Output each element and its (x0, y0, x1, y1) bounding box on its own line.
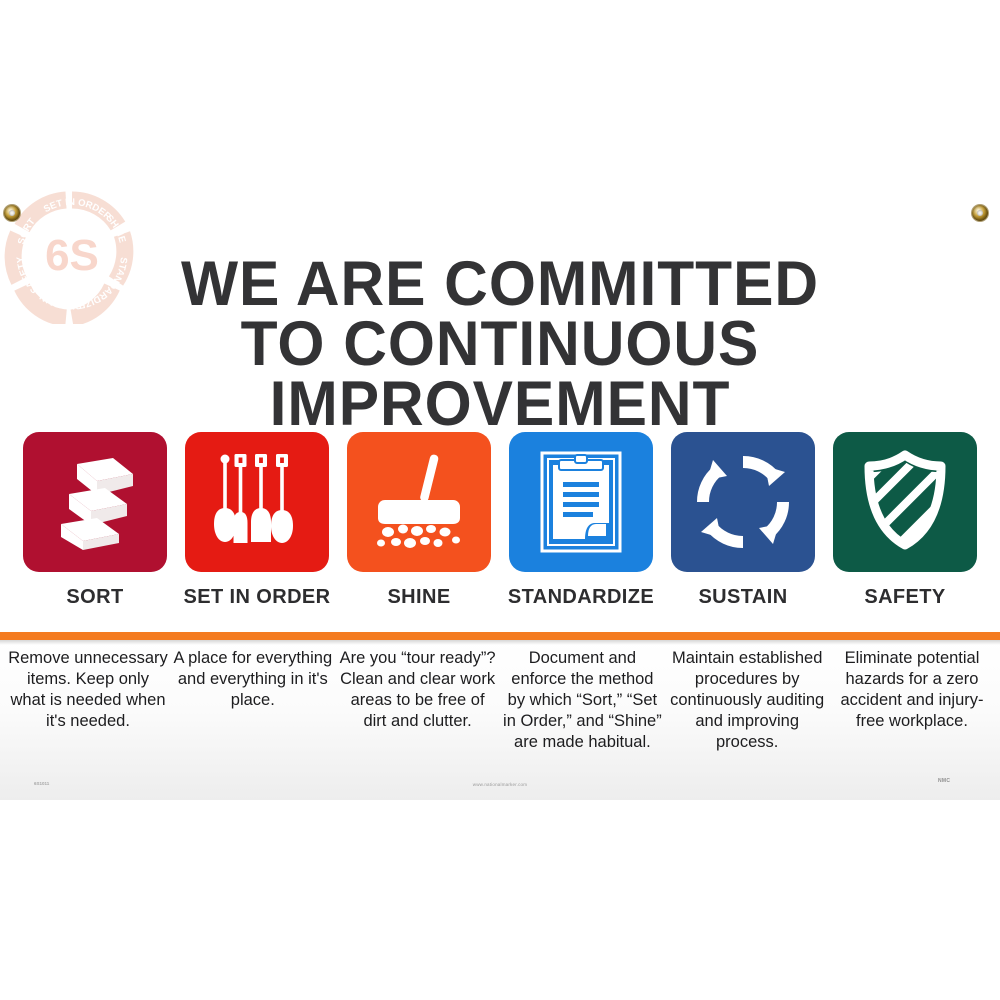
screenshot-canvas: 6S SORT SET IN ORDER SHINE STANDARDIZE S… (0, 0, 1000, 1000)
pillar-description-standardize: Document and enforce the method by which… (502, 648, 662, 753)
pillar-standardize: STANDARDIZE (508, 432, 654, 612)
stacked-boxes-icon (47, 450, 143, 554)
pillar-description-shine: Are you “tour ready”? Clean and clear wo… (338, 648, 498, 753)
divider-shadow (0, 640, 1000, 645)
hanging-tools-icon (209, 450, 305, 554)
pillar-label-sustain: SUSTAIN (698, 586, 787, 609)
pillar-label-set-in-order: SET IN ORDER (183, 586, 330, 609)
clipboard-document-icon (539, 450, 623, 554)
manufacturer-logo: NMC (938, 778, 950, 784)
pillar-tile-standardize (509, 432, 653, 572)
pillar-description-safety: Eliminate potential hazards for a zero a… (832, 648, 992, 753)
pillar-tile-row: SORT (0, 432, 1000, 612)
pillar-set-in-order: SET IN ORDER (184, 432, 330, 612)
circular-arrows-icon (691, 450, 795, 554)
sweeping-broom-icon (369, 450, 469, 554)
pillar-tile-shine (347, 432, 491, 572)
pillar-description-row: Remove unnecessary items. Keep only what… (0, 648, 1000, 753)
banner-footer-url: www.nationalmarker.com (0, 782, 1000, 787)
pillar-description-set-in-order: A place for everything and everything in… (173, 648, 333, 753)
pillar-label-sort: SORT (66, 586, 123, 609)
headline-line-1: WE ARE COMMITTED (20, 254, 980, 314)
pillar-label-safety: SAFETY (864, 586, 945, 609)
pillar-tile-sort (23, 432, 167, 572)
pillar-tile-set-in-order (185, 432, 329, 572)
svg-text:SHINE: SHINE (103, 213, 127, 244)
pillar-sustain: SUSTAIN (670, 432, 816, 612)
pillar-safety: SAFETY (832, 432, 978, 612)
svg-text:SET IN ORDER: SET IN ORDER (42, 197, 113, 223)
headline-line-2: TO CONTINUOUS IMPROVEMENT (20, 314, 980, 434)
pillar-tile-safety (833, 432, 977, 572)
shield-icon (859, 450, 951, 554)
pillar-shine: SHINE (346, 432, 492, 612)
pillar-tile-sustain (671, 432, 815, 572)
pillar-sort: SORT (22, 432, 168, 612)
grommet-top-left (4, 205, 20, 221)
6s-banner: 6S SORT SET IN ORDER SHINE STANDARDIZE S… (0, 170, 1000, 800)
svg-text:SORT: SORT (16, 216, 38, 245)
grommet-top-right (972, 205, 988, 221)
banner-headline: WE ARE COMMITTED TO CONTINUOUS IMPROVEME… (20, 254, 980, 434)
orange-divider-rule (0, 632, 1000, 640)
pillar-label-shine: SHINE (387, 586, 450, 609)
pillar-description-sort: Remove unnecessary items. Keep only what… (8, 648, 168, 753)
pillar-description-sustain: Maintain established procedures by conti… (667, 648, 827, 753)
pillar-label-standardize: STANDARDIZE (508, 586, 654, 609)
